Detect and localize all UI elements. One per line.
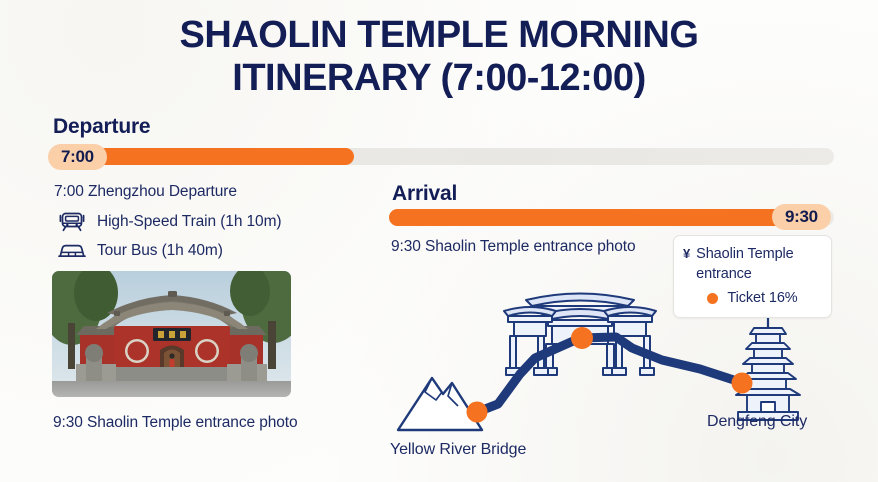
page-title: SHAOLIN TEMPLE MORNING ITINERARY (7:00-1…: [0, 14, 878, 99]
departure-progress-track: [50, 148, 834, 165]
route-marker-shaolin-temple: [571, 327, 593, 349]
arrival-time-badge: 9:30: [772, 204, 831, 230]
shaolin-temple-gate-photo: [52, 271, 291, 397]
page-title-line-2: ITINERARY (7:00-12:00): [0, 57, 878, 100]
transport-mode-train-label: High-Speed Train (1h 10m): [97, 213, 281, 231]
photo-caption: 9:30 Shaolin Temple entrance photo: [53, 412, 323, 434]
arrival-progress-track: [389, 209, 834, 226]
mountain-icon: [398, 378, 482, 430]
arrival-heading: Arrival: [392, 182, 457, 206]
route-marker-dengfeng-city: [732, 373, 753, 394]
bus-icon: [57, 240, 87, 262]
arrival-progress-fill: [389, 209, 787, 226]
train-icon: [57, 211, 87, 233]
departure-time-badge: 7:00: [48, 144, 107, 170]
pagoda-icon: [736, 318, 800, 420]
yen-currency-icon: ¥: [683, 244, 690, 264]
route-label-yellow-river-bridge: Yellow River Bridge: [390, 441, 526, 459]
infographic-canvas: SHAOLIN TEMPLE MORNING ITINERARY (7:00-1…: [0, 0, 878, 482]
departure-heading: Departure: [53, 115, 150, 139]
departure-summary: 7:00 Zhengzhou Departure: [54, 183, 237, 201]
arrival-caption: 9:30 Shaolin Temple entrance photo: [391, 236, 641, 258]
route-marker-yellow-river-bridge: [467, 402, 488, 423]
transport-mode-bus-label: Tour Bus (1h 40m): [97, 242, 223, 260]
transport-mode-bus: Tour Bus (1h 40m): [57, 240, 223, 262]
transport-mode-train: High-Speed Train (1h 10m): [57, 211, 281, 233]
route-label-dengfeng-city: Dengfeng City: [707, 413, 807, 431]
page-title-line-1: SHAOLIN TEMPLE MORNING: [0, 14, 878, 57]
